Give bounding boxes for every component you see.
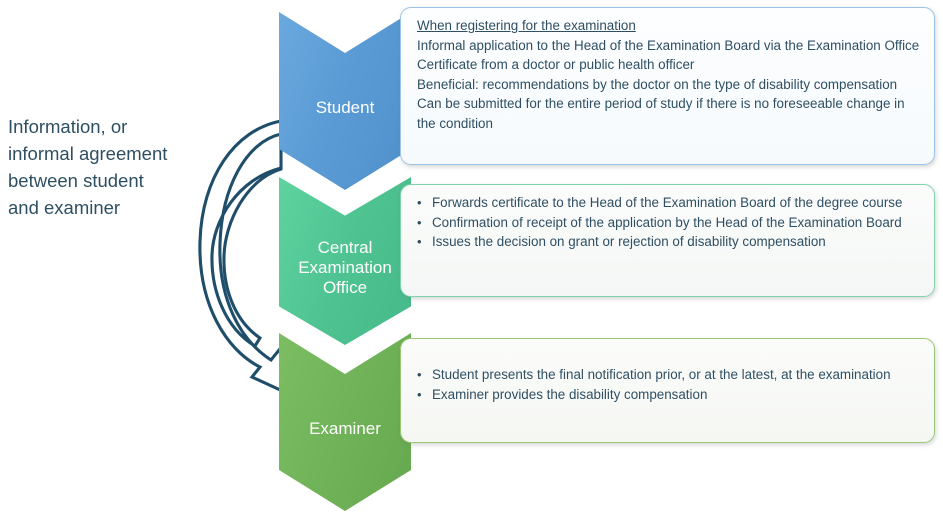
list-item: Examiner provides the disability compens…	[417, 385, 920, 405]
details-box-student: When registering for the examination Inf…	[400, 7, 935, 165]
stage-label-central-examination-office: Central Examination Office	[279, 224, 411, 298]
stage-label-examiner: Examiner	[279, 405, 411, 439]
details-line: Certificate from a doctor or public heal…	[417, 55, 920, 75]
list-item: Student presents the final notification …	[417, 365, 920, 385]
details-box-central-examination-office: Forwards certificate to the Head of the …	[400, 184, 935, 297]
details-line: Can be submitted for the entire period o…	[417, 94, 920, 133]
details-line: Informal application to the Head of the …	[417, 36, 920, 56]
details-bullet-list: Student presents the final notification …	[417, 365, 920, 404]
list-item: Issues the decision on grant or rejectio…	[417, 232, 920, 252]
stage-chevron-examiner[interactable]: Examiner	[279, 333, 411, 511]
list-item: Forwards certificate to the Head of the …	[417, 193, 920, 213]
details-heading-student: When registering for the examination	[417, 16, 920, 36]
process-caption: Information, or informal agreement betwe…	[8, 113, 168, 221]
list-item: Confirmation of receipt of the applicati…	[417, 213, 920, 233]
details-line: Beneficial: recommendations by the docto…	[417, 75, 920, 95]
stage-label-student: Student	[279, 84, 411, 118]
details-box-examiner: Student presents the final notification …	[400, 338, 935, 443]
details-bullet-list: Forwards certificate to the Head of the …	[417, 193, 920, 252]
